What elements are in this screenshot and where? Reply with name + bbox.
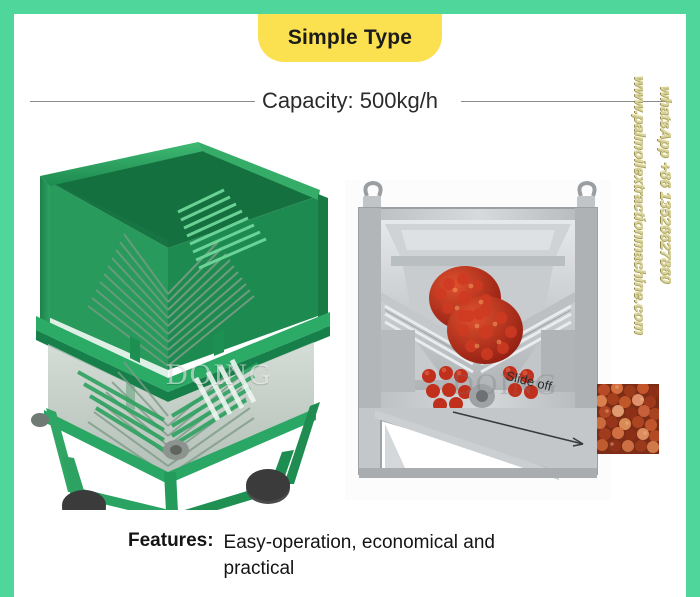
gray-machine-illustration [345, 180, 610, 500]
frame-border-top [0, 0, 700, 14]
poster-root: DOING [0, 0, 700, 597]
capacity-row: Capacity: 500kg/h [14, 84, 686, 118]
product-photo-left [18, 120, 338, 510]
watermark-website-url: www.palmoilextractionmachine.com [631, 76, 648, 335]
title-badge: Simple Type [258, 14, 442, 62]
capacity-text: Capacity: 500kg/h [14, 84, 686, 118]
green-machine-illustration [18, 120, 338, 510]
features-label: Features: [128, 530, 214, 552]
product-photo-right [345, 180, 610, 500]
loose-palm-fruits-illustration [597, 384, 659, 454]
frame-corner-top-right [646, 14, 686, 54]
frame-border-left [0, 0, 14, 597]
frame-border-right [686, 0, 700, 597]
fruit-inset-photo [597, 384, 659, 454]
frame-corner-top-left [14, 14, 54, 54]
watermark-whatsapp: whatsApp +86 13526627860 [657, 86, 674, 283]
title-badge-label: Simple Type [288, 26, 412, 50]
features-text: Easy-operation, economical and practical [224, 530, 544, 581]
features-row: Features: Easy-operation, economical and… [128, 530, 588, 581]
